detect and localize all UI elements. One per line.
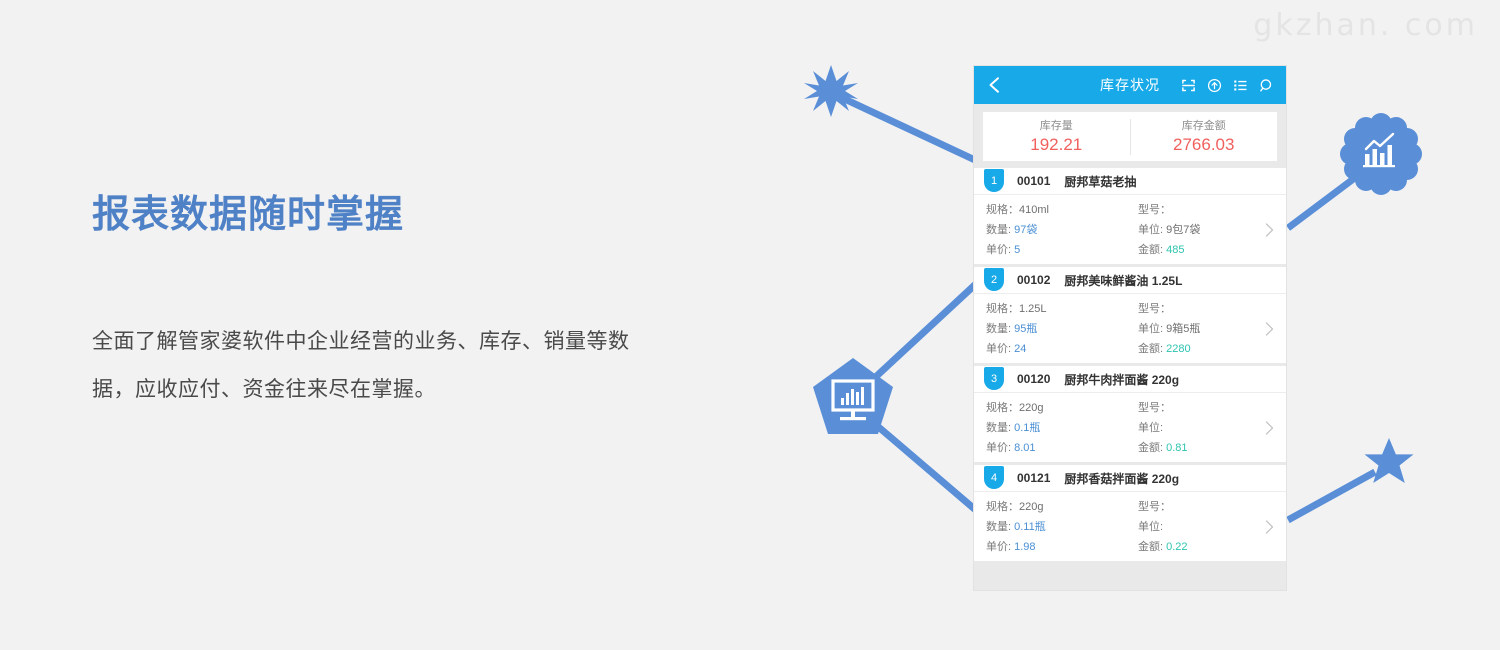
field-model: 型号： <box>1138 498 1286 514</box>
star-icon <box>1365 438 1414 483</box>
chart-badge-icon <box>1340 113 1422 195</box>
summary-value: 192.21 <box>983 134 1130 155</box>
scan-icon[interactable] <box>1181 78 1196 93</box>
field-qty: 数量: 97袋 <box>986 221 1138 237</box>
connector-line-bottom-right <box>1288 472 1375 520</box>
monitor-pentagon-icon <box>813 358 893 434</box>
list-item[interactable]: 1 00101 厨邦草菇老抽 规格：410ml 型号： 数量: 97袋 单位: … <box>974 168 1286 264</box>
copy-block: 报表数据随时掌握 全面了解管家婆软件中企业经营的业务、库存、销量等数据，应收应付… <box>92 192 632 414</box>
summary-stock-qty: 库存量 192.21 <box>983 119 1130 155</box>
item-name: 厨邦美味鲜酱油 1.25L <box>1064 272 1182 289</box>
field-price: 单价: 8.01 <box>986 439 1138 455</box>
item-code: 00120 <box>1017 372 1050 386</box>
item-name: 厨邦草菇老抽 <box>1064 173 1136 190</box>
item-index-badge: 2 <box>984 268 1004 291</box>
field-qty: 数量: 0.11瓶 <box>986 518 1138 534</box>
chevron-right-icon[interactable] <box>1265 321 1274 336</box>
field-amount: 金额: 2280 <box>1138 340 1286 356</box>
field-spec-value: 410ml <box>1019 204 1049 216</box>
list-item-header: 4 00121 厨邦香菇拌面酱 220g <box>974 465 1286 492</box>
field-amount: 金额: 0.81 <box>1138 439 1286 455</box>
list-icon[interactable] <box>1233 78 1248 93</box>
watermark: gkzhan. com <box>1253 8 1478 43</box>
field-unit-value: 9包7袋 <box>1166 224 1200 236</box>
item-name: 厨邦香菇拌面酱 220g <box>1064 470 1179 487</box>
item-index-badge: 3 <box>984 367 1004 390</box>
copy-paragraph: 全面了解管家婆软件中企业经营的业务、库存、销量等数据，应收应付、资金往来尽在掌握… <box>92 318 632 414</box>
list-item-header: 2 00102 厨邦美味鲜酱油 1.25L <box>974 267 1286 294</box>
field-unit: 单位: 9包7袋 <box>1138 221 1286 237</box>
summary-label: 库存金额 <box>1131 119 1278 134</box>
item-name: 厨邦牛肉拌面酱 220g <box>1064 371 1179 388</box>
page-title: 报表数据随时掌握 <box>92 192 632 240</box>
item-index-badge: 1 <box>984 169 1004 192</box>
search-icon[interactable] <box>1259 78 1274 93</box>
list-item-body: 规格：220g 型号： 数量: 0.1瓶 单位: 单价: 8.01 金额: 0.… <box>974 393 1286 462</box>
field-model: 型号： <box>1138 201 1286 217</box>
page-canvas: gkzhan. com 报表数据随时掌握 全面了解管家婆软件中企业经营的业务、库… <box>0 0 1500 650</box>
back-icon[interactable] <box>986 76 1004 94</box>
field-spec-value: 1.25L <box>1019 303 1047 315</box>
list-item-body: 规格：410ml 型号： 数量: 97袋 单位: 9包7袋 单价: 5 金额: … <box>974 195 1286 264</box>
field-unit: 单位: 9箱5瓶 <box>1138 320 1286 336</box>
connector-line-mid-lower <box>868 418 978 512</box>
list-item[interactable]: 4 00121 厨邦香菇拌面酱 220g 规格：220g 型号： 数量: 0.1… <box>974 465 1286 561</box>
header-actions <box>1181 78 1274 93</box>
field-qty-value: 95瓶 <box>1014 323 1037 335</box>
field-spec-value: 220g <box>1019 501 1043 513</box>
connector-line-top-left <box>836 95 975 160</box>
chevron-right-icon[interactable] <box>1265 222 1274 237</box>
field-amount-value: 0.22 <box>1166 541 1187 553</box>
list-item[interactable]: 2 00102 厨邦美味鲜酱油 1.25L 规格：1.25L 型号： 数量: 9… <box>974 267 1286 363</box>
chevron-right-icon[interactable] <box>1265 420 1274 435</box>
list-item[interactable]: 3 00120 厨邦牛肉拌面酱 220g 规格：220g 型号： 数量: 0.1… <box>974 366 1286 462</box>
field-price-value: 8.01 <box>1014 442 1035 454</box>
item-code: 00121 <box>1017 471 1050 485</box>
field-spec: 规格：410ml <box>986 201 1138 217</box>
connector-line-mid-upper <box>868 282 978 384</box>
field-model: 型号： <box>1138 399 1286 415</box>
item-code: 00102 <box>1017 273 1050 287</box>
item-code: 00101 <box>1017 174 1050 188</box>
list-item-header: 3 00120 厨邦牛肉拌面酱 220g <box>974 366 1286 393</box>
field-qty-value: 97袋 <box>1014 224 1037 236</box>
starburst-icon <box>804 65 858 117</box>
list-item-body: 规格：1.25L 型号： 数量: 95瓶 单位: 9箱5瓶 单价: 24 金额:… <box>974 294 1286 363</box>
field-price-value: 5 <box>1014 244 1020 256</box>
field-amount: 金额: 0.22 <box>1138 538 1286 554</box>
item-index-badge: 4 <box>984 466 1004 489</box>
field-price-value: 1.98 <box>1014 541 1035 553</box>
field-price-value: 24 <box>1014 343 1026 355</box>
field-amount-value: 485 <box>1166 244 1184 256</box>
field-qty: 数量: 0.1瓶 <box>986 419 1138 435</box>
field-unit-value: 9箱5瓶 <box>1166 323 1200 335</box>
list-empty-area <box>974 564 1286 590</box>
summary-label: 库存量 <box>983 119 1130 134</box>
summary-card: 库存量 192.21 库存金额 2766.03 <box>983 112 1277 161</box>
chevron-right-icon[interactable] <box>1265 519 1274 534</box>
upload-circle-icon[interactable] <box>1207 78 1222 93</box>
field-qty-value: 0.11瓶 <box>1014 521 1046 533</box>
summary-value: 2766.03 <box>1131 134 1278 155</box>
field-unit: 单位: <box>1138 419 1286 435</box>
inventory-list: 1 00101 厨邦草菇老抽 规格：410ml 型号： 数量: 97袋 单位: … <box>974 168 1286 561</box>
field-amount-value: 0.81 <box>1166 442 1187 454</box>
list-item-body: 规格：220g 型号： 数量: 0.11瓶 单位: 单价: 1.98 金额: 0… <box>974 492 1286 561</box>
field-amount-value: 2280 <box>1166 343 1190 355</box>
field-spec: 规格：1.25L <box>986 300 1138 316</box>
field-model: 型号： <box>1138 300 1286 316</box>
field-spec: 规格：220g <box>986 498 1138 514</box>
field-amount: 金额: 485 <box>1138 241 1286 257</box>
app-header: 库存状况 <box>974 66 1286 104</box>
field-price: 单价: 24 <box>986 340 1138 356</box>
connector-line-top-right <box>1288 168 1368 228</box>
phone-mockup: 库存状况 <box>974 66 1286 590</box>
list-item-header: 1 00101 厨邦草菇老抽 <box>974 168 1286 195</box>
summary-stock-amount: 库存金额 2766.03 <box>1130 119 1278 155</box>
field-spec-value: 220g <box>1019 402 1043 414</box>
field-price: 单价: 1.98 <box>986 538 1138 554</box>
field-qty-value: 0.1瓶 <box>1014 422 1040 434</box>
field-spec: 规格：220g <box>986 399 1138 415</box>
field-price: 单价: 5 <box>986 241 1138 257</box>
field-qty: 数量: 95瓶 <box>986 320 1138 336</box>
field-unit: 单位: <box>1138 518 1286 534</box>
